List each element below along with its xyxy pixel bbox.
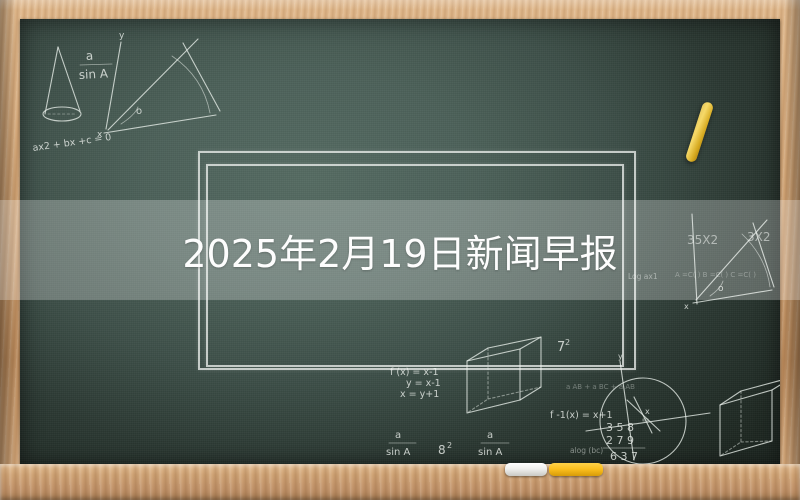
svg-text:sin A: sin A	[386, 447, 411, 458]
cone-sketch	[43, 47, 81, 121]
long-division-group: 3 5 8 2 7 9 6 3 7	[603, 421, 645, 463]
svg-text:y: y	[119, 31, 125, 41]
svg-text:2 7 9: 2 7 9	[606, 434, 634, 447]
svg-text:x: x	[684, 302, 689, 311]
svg-text:sin A: sin A	[478, 447, 503, 458]
eight-squared: 8	[438, 443, 446, 457]
svg-text:6 3 7: 6 3 7	[610, 450, 638, 463]
fraction-a-over-sinA-bottomleft: a sin A	[386, 430, 416, 458]
chalk-tray	[0, 464, 800, 500]
svg-text:x = y+1: x = y+1	[400, 389, 439, 400]
chalkboard-banner: a sin A ax2 + bx +c = 0 y x o	[0, 0, 800, 500]
fraction-a-over-sinA-topleft: a sin A	[78, 49, 112, 82]
svg-text:a: a	[395, 430, 401, 441]
svg-text:a: a	[85, 49, 93, 63]
log-expression: alog (bc)	[570, 446, 603, 455]
svg-text:a: a	[487, 430, 493, 441]
svg-text:sin A: sin A	[78, 66, 109, 82]
faint-formula: a AB + a BC + a AB	[566, 383, 635, 391]
svg-text:o: o	[136, 106, 142, 117]
fraction-a-over-sinA-bottomcenter: a sin A	[478, 430, 509, 458]
quadratic-equation: ax2 + bx +c = 0	[32, 132, 112, 154]
angle-diagram-topleft: y x o	[97, 31, 220, 140]
function-equations-group: f (x) = x-1 y = x-1 x = y+1	[390, 367, 441, 400]
inverse-function: f -1(x) = x+1	[550, 410, 613, 421]
svg-text:3 5 8: 3 5 8	[606, 421, 634, 434]
white-chalk-stick	[505, 463, 547, 476]
svg-text:x: x	[645, 407, 650, 416]
eight-superscript: 2	[447, 441, 452, 450]
svg-text:x: x	[97, 130, 103, 140]
yellow-chalk-stick	[549, 463, 603, 476]
page-title: 2025年2月19日新闻早报	[0, 200, 800, 300]
yellow-chalk-stick-upright	[685, 101, 715, 163]
svg-text:y = x-1: y = x-1	[406, 378, 441, 389]
cube-sketch-right	[720, 377, 780, 456]
